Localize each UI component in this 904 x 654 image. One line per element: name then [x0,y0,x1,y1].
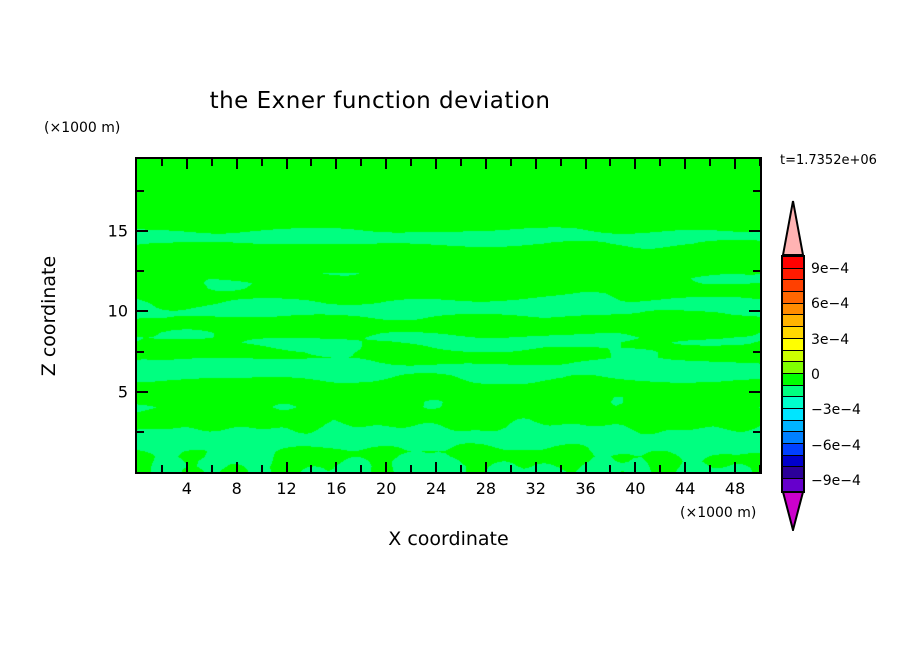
x-tick-major [634,462,636,472]
x-tick-minor-top [310,159,312,166]
x-tick-label: 8 [232,479,242,498]
x-axis-units-label: (×1000 m) [680,505,756,521]
x-tick-minor-top [460,159,462,166]
colorbar-band [783,351,803,363]
x-tick-minor [310,465,312,472]
y-axis-units-label: (×1000 m) [44,120,120,136]
x-tick-minor-top [261,159,263,166]
y-tick-major-right [749,310,760,312]
colorbar-band [783,409,803,421]
x-tick-label: 44 [675,479,695,498]
y-tick-minor [137,351,144,353]
y-tick-minor-right [753,190,760,192]
colorbar-band [783,421,803,433]
x-tick-major-top [684,159,686,169]
y-tick-label: 15 [108,222,128,241]
colorbar: 9e−46e−43e−40−3e−4−6e−4−9e−4 [781,200,805,520]
x-tick-major [286,462,288,472]
x-tick-minor [510,465,512,472]
y-tick-major-right [749,230,760,232]
x-tick-label: 12 [276,479,296,498]
x-tick-label: 28 [476,479,496,498]
x-tick-minor [261,465,263,472]
x-tick-major [236,462,238,472]
x-tick-major-top [435,159,437,169]
x-tick-minor-top [211,159,213,166]
y-tick-minor [137,431,144,433]
x-tick-minor [659,465,661,472]
y-tick-label: 10 [108,302,128,321]
colorbar-band [783,362,803,374]
x-tick-minor-top [161,159,163,166]
x-tick-minor-top [510,159,512,166]
x-tick-major [186,462,188,472]
x-tick-label: 40 [625,479,645,498]
x-tick-label: 20 [376,479,396,498]
x-tick-major [435,462,437,472]
x-tick-major-top [485,159,487,169]
y-tick-label: 5 [118,382,128,401]
x-tick-minor [609,465,611,472]
x-tick-major-top [385,159,387,169]
x-tick-major-top [236,159,238,169]
colorbar-band [783,304,803,316]
x-tick-minor-top [360,159,362,166]
colorbar-over-arrow [781,200,805,257]
y-tick-minor [137,270,144,272]
colorbar-tick-label: −3e−4 [811,402,861,418]
x-tick-minor-top [759,159,761,166]
y-tick-minor [137,190,144,192]
colorbar-band [783,315,803,327]
x-tick-label: 24 [426,479,446,498]
colorbar-band [783,467,803,479]
x-tick-label: 32 [526,479,546,498]
x-tick-minor [360,465,362,472]
x-tick-minor [410,465,412,472]
x-tick-major [734,462,736,472]
y-tick-minor-right [753,270,760,272]
y-tick-minor-right [753,431,760,433]
x-tick-major-top [535,159,537,169]
colorbar-band [783,327,803,339]
x-tick-label: 16 [326,479,346,498]
x-tick-major-top [734,159,736,169]
x-tick-major-top [335,159,337,169]
x-tick-minor [759,465,761,472]
x-tick-label: 4 [182,479,192,498]
contour-field [137,159,760,472]
x-tick-minor-top [709,159,711,166]
x-tick-minor [709,465,711,472]
x-tick-major-top [634,159,636,169]
x-tick-major [335,462,337,472]
x-tick-label: 48 [725,479,745,498]
colorbar-band [783,444,803,456]
colorbar-tick-label: 0 [811,367,820,383]
x-tick-major [535,462,537,472]
colorbar-tick-label: 9e−4 [811,261,849,277]
colorbar-band [783,479,803,491]
page-title: the Exner function deviation [0,88,760,114]
x-tick-major [385,462,387,472]
x-tick-minor-top [609,159,611,166]
x-tick-minor-top [410,159,412,166]
x-tick-minor-top [659,159,661,166]
colorbar-tick-label: 6e−4 [811,296,849,312]
colorbar-tick-label: −6e−4 [811,438,861,454]
y-axis-title: Z coordinate [38,256,60,376]
colorbar-tick-label: 3e−4 [811,332,849,348]
y-tick-major [137,391,148,393]
x-tick-major [684,462,686,472]
x-tick-major [585,462,587,472]
plot-area [135,157,762,474]
x-tick-major-top [286,159,288,169]
colorbar-tick-label: −9e−4 [811,473,861,489]
colorbar-band [783,374,803,386]
y-tick-major-right [749,391,760,393]
y-tick-major [137,230,148,232]
x-tick-major-top [585,159,587,169]
x-tick-minor-top [560,159,562,166]
time-annotation: t=1.7352e+06 [780,153,877,168]
chart-stage: the Exner function deviation (×1000 m) (… [0,0,904,654]
x-tick-minor [211,465,213,472]
x-axis-title: X coordinate [135,528,762,550]
colorbar-bands [781,255,805,493]
colorbar-band [783,397,803,409]
x-tick-minor [560,465,562,472]
colorbar-under-arrow [781,491,805,531]
x-tick-minor [161,465,163,472]
colorbar-band [783,269,803,281]
x-tick-major [485,462,487,472]
y-tick-minor-right [753,351,760,353]
x-tick-major-top [186,159,188,169]
colorbar-band [783,432,803,444]
colorbar-band [783,339,803,351]
y-tick-major [137,310,148,312]
colorbar-band [783,257,803,269]
colorbar-band [783,386,803,398]
colorbar-band [783,292,803,304]
colorbar-band [783,456,803,468]
x-tick-label: 36 [575,479,595,498]
colorbar-band [783,280,803,292]
x-tick-minor [460,465,462,472]
